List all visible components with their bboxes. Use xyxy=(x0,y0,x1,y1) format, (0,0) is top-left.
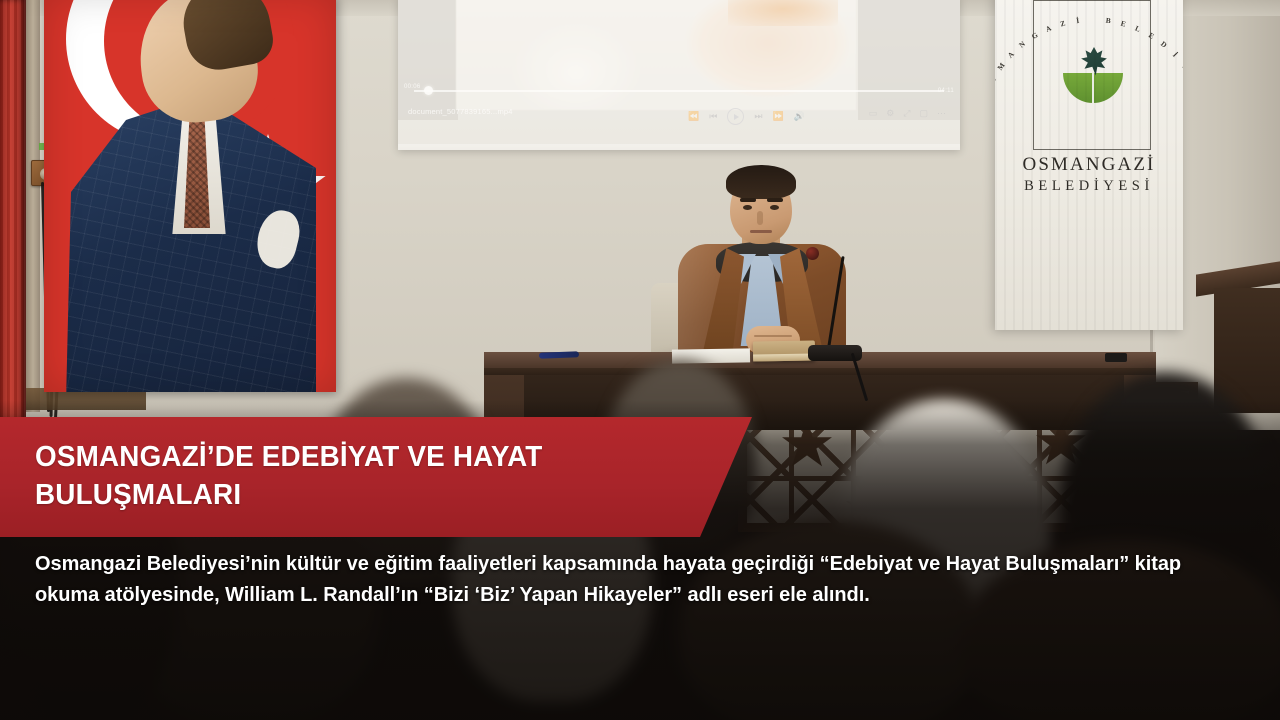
headline-banner: OSMANGAZİ’DE EDEBİYAT VE HAYATBULUŞMALAR… xyxy=(0,417,752,537)
news-photo-card: 00:06 04:11 document_5077839165...mp4 ⏪ … xyxy=(0,0,1280,720)
rollup-title-primary: OSMANGAZİ xyxy=(995,154,1183,176)
page-title: OSMANGAZİ’DE EDEBİYAT VE HAYATBULUŞMALAR… xyxy=(35,439,542,514)
municipality-emblem: BURSA OSMANGAZİ BELEDİYESİ 1987 xyxy=(1050,15,1136,133)
logo-frame: BURSA OSMANGAZİ BELEDİYESİ 1987 xyxy=(1033,0,1151,150)
emblem-stem xyxy=(1092,73,1094,103)
headline-line-1: OSMANGAZİ’DE EDEBİYAT VE HAYAT xyxy=(35,441,542,473)
speaker-eye-left xyxy=(743,205,752,210)
speaker-hair xyxy=(726,165,796,199)
projection-screen: 00:06 04:11 document_5077839165...mp4 ⏪ … xyxy=(398,0,960,150)
poster-vignette xyxy=(44,0,336,392)
speaker-figure xyxy=(672,168,852,360)
speaker-nose xyxy=(757,211,763,225)
wall-pilaster xyxy=(26,0,40,412)
ataturk-poster xyxy=(44,0,336,392)
speaker-brow-right xyxy=(767,198,783,202)
rollup-title-secondary: BELEDİYESİ xyxy=(995,178,1183,195)
desk-phone xyxy=(1105,353,1127,362)
microphone-head-icon xyxy=(806,247,819,260)
red-curtain xyxy=(0,0,26,420)
headline-line-2: BULUŞMALARI xyxy=(35,479,241,511)
speaker-eye-right xyxy=(770,205,779,210)
desk-book xyxy=(753,340,815,361)
emblem-hill xyxy=(1063,73,1123,103)
emblem-ring-text: BURSA OSMANGAZİ BELEDİYESİ 1987 xyxy=(1050,15,1136,133)
speaker-mouth xyxy=(750,230,772,233)
event-photograph: 00:06 04:11 document_5077839165...mp4 ⏪ … xyxy=(0,0,1280,720)
table-edge xyxy=(484,368,1156,375)
emblem-leaf-icon xyxy=(1080,47,1108,81)
osmangazi-rollup-banner: BURSA OSMANGAZİ BELEDİYESİ 1987 OSMANGAZ… xyxy=(995,0,1183,330)
projection-washout xyxy=(398,0,960,150)
article-summary: Osmangazi Belediyesi’nin kültür ve eğiti… xyxy=(35,548,1190,610)
speaker-brow-left xyxy=(740,198,756,202)
